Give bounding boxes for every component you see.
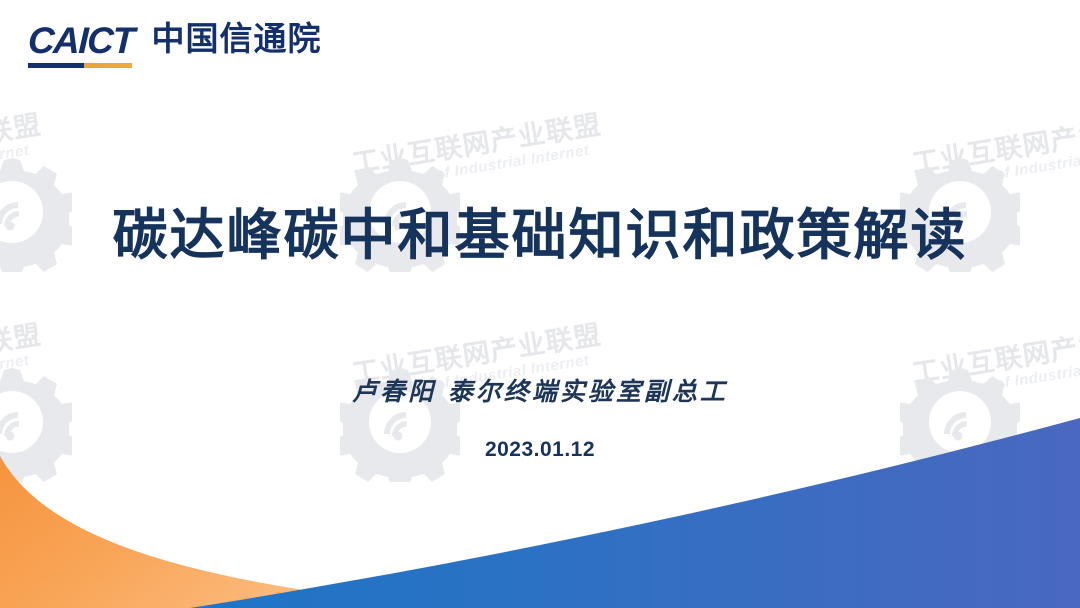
caict-wordmark: CAICT [27, 22, 134, 59]
watermark-cn-label: 工业互联网产业联盟 [910, 111, 1080, 178]
slide-author: 卢春阳 泰尔终端实验室副总工 [0, 372, 1080, 408]
caict-logo-mark: CAICT [28, 22, 134, 68]
presentation-slide: 工业互联网产业联盟 Alliance of Industrial Interne… [0, 0, 1080, 608]
caict-chinese-name: 中国信通院 [152, 22, 322, 57]
caict-logo: CAICT 中国信通院 [28, 22, 322, 68]
watermark-text: 工业互联网产业联盟 Alliance of Industrial Interne… [0, 111, 46, 196]
slide-title: 碳达峰碳中和基础知识和政策解读 [0, 204, 1080, 267]
watermark-cn-label: 工业互联网产业联盟 [350, 111, 603, 178]
watermark-en-label: Alliance of Industrial Internet [928, 140, 1080, 194]
orange-wave-shape [0, 456, 330, 608]
watermark-en-label: Alliance of Industrial Internet [0, 140, 46, 194]
slide-date: 2023.01.12 [0, 438, 1080, 462]
watermark-text: 工业互联网产业联盟 Alliance of Industrial Interne… [910, 111, 1080, 196]
watermark-text: 工业互联网产业联盟 Alliance of Industrial Interne… [350, 111, 606, 196]
watermark-cn-label: 工业互联网产业联盟 [0, 111, 43, 178]
watermark-en-label: Alliance of Industrial Internet [368, 140, 606, 194]
logo-underline-bar [28, 63, 132, 68]
